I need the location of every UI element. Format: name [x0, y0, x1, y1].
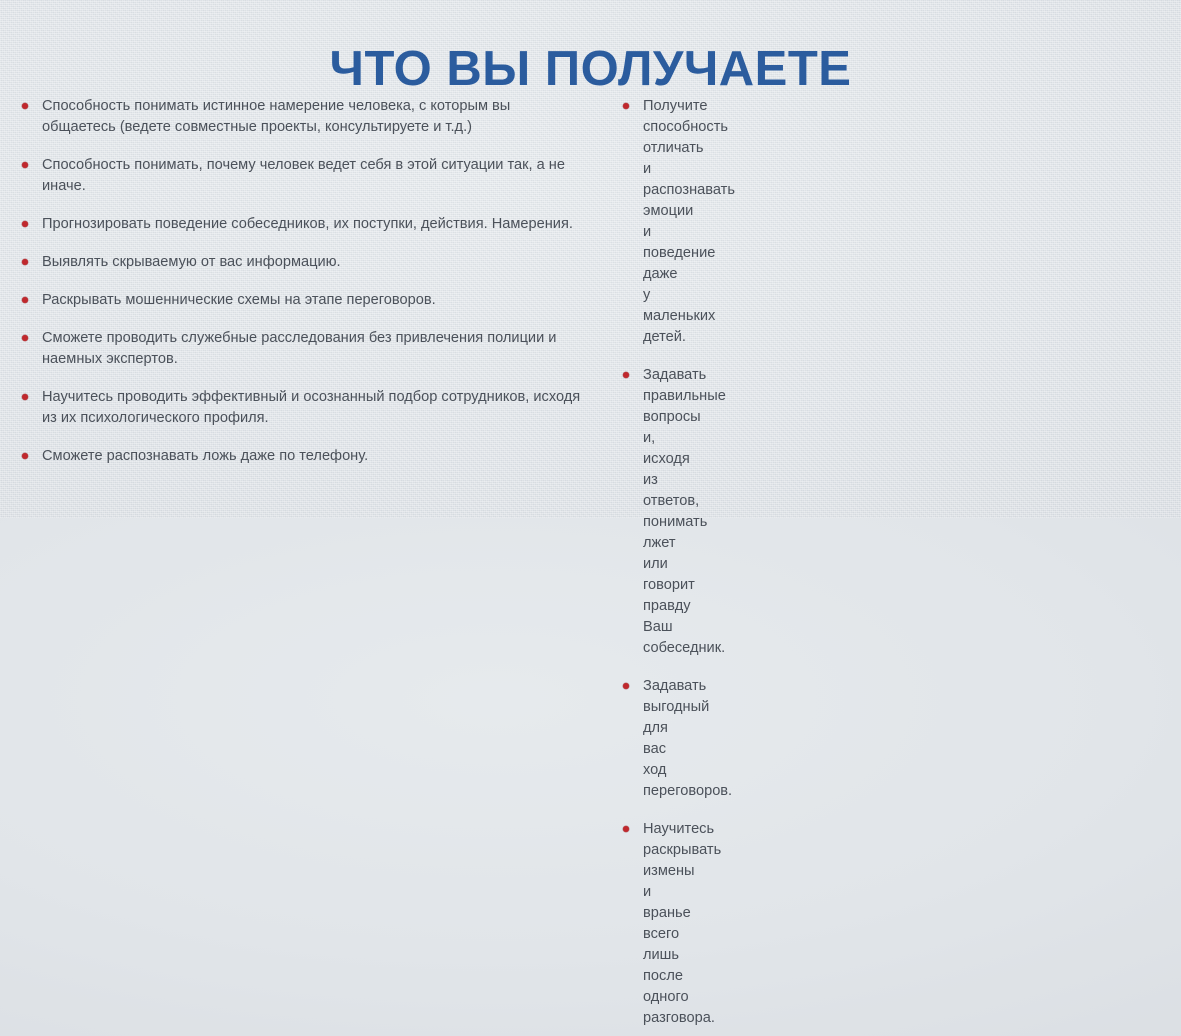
- benefit-text: Сможете распознавать ложь даже по телефо…: [42, 446, 582, 467]
- list-item: Получите способность отличать и распозна…: [619, 96, 643, 348]
- benefits-column-left: Способность понимать истинное намерение …: [0, 96, 600, 484]
- bullet-dot-icon: [22, 221, 28, 227]
- benefit-text: Способность понимать истинное намерение …: [42, 96, 582, 138]
- bullet-dot-icon: [22, 103, 28, 109]
- bullet-dot-icon: [623, 103, 629, 109]
- bullet-dot-icon: [22, 335, 28, 341]
- benefits-columns: Способность понимать истинное намерение …: [0, 96, 1181, 1036]
- list-item: Выявлять скрываемую от вас информацию.: [18, 252, 582, 273]
- benefit-text: Способность понимать, почему человек вед…: [42, 155, 582, 197]
- benefits-column-right: Получите способность отличать и распозна…: [0, 96, 631, 1036]
- list-item: Научитесь раскрывать измены и вранье все…: [619, 819, 643, 1029]
- page-title: ЧТО ВЫ ПОЛУЧАЕТЕ: [0, 41, 1181, 97]
- benefit-text: Сможете проводить служебные расследовани…: [42, 328, 582, 370]
- list-item: Задавать выгодный для вас ход переговоро…: [619, 676, 643, 802]
- bullet-dot-icon: [22, 162, 28, 168]
- list-item: Сможете распознавать ложь даже по телефо…: [18, 446, 582, 467]
- list-item: Прогнозировать поведение собеседников, и…: [18, 214, 582, 235]
- bullet-dot-icon: [22, 297, 28, 303]
- benefits-section: ЧТО ВЫ ПОЛУЧАЕТЕ Способность понимать ис…: [0, 0, 1181, 518]
- benefit-text: Выявлять скрываемую от вас информацию.: [42, 252, 582, 273]
- bullet-dot-icon: [22, 394, 28, 400]
- list-item: Способность понимать истинное намерение …: [18, 96, 582, 138]
- benefit-text: Раскрывать мошеннические схемы на этапе …: [42, 290, 582, 311]
- list-item: Научитесь проводить эффективный и осозна…: [18, 387, 582, 429]
- bullet-dot-icon: [623, 372, 629, 378]
- bullet-dot-icon: [623, 826, 629, 832]
- list-item: Задавать правильные вопросы и, исходя из…: [619, 365, 643, 659]
- bullet-dot-icon: [22, 453, 28, 459]
- list-item: Сможете проводить служебные расследовани…: [18, 328, 582, 370]
- bullet-dot-icon: [22, 259, 28, 265]
- list-item: Способность понимать, почему человек вед…: [18, 155, 582, 197]
- benefit-text: Научитесь проводить эффективный и осозна…: [42, 387, 582, 429]
- list-item: Раскрывать мошеннические схемы на этапе …: [18, 290, 582, 311]
- bullet-dot-icon: [623, 683, 629, 689]
- benefit-text: Прогнозировать поведение собеседников, и…: [42, 214, 582, 235]
